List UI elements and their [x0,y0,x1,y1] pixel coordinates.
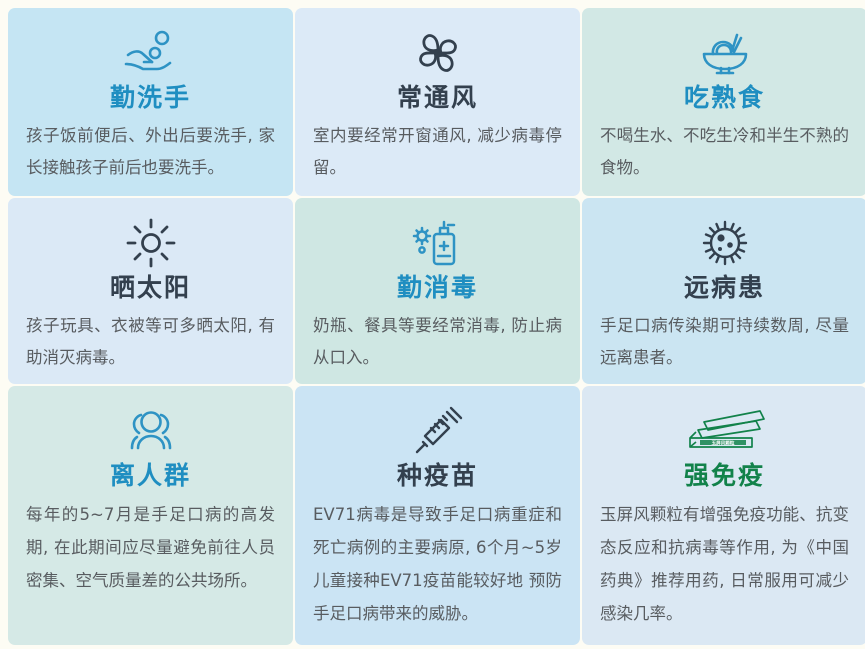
card-title: 强免疫 [684,462,765,490]
card-avoid-crowds[interactable]: 离人群 每年的5~7月是手足口病的高发期, 在此期间应尽量避免前往人员密集、空气… [8,386,293,645]
card-title: 勤消毒 [397,274,478,302]
card-title: 远病患 [684,274,765,302]
card-body: 孩子玩具、衣被等可多晒太阳, 有助消灭病毒。 [26,310,275,374]
card-body: EV71病毒是导致手足口病重症和死亡病例的主要病原, 6个月~5岁儿童接种EV7… [313,498,562,630]
sun-icon [126,216,176,270]
card-body: 手足口病传染期可持续数周, 尽量远离患者。 [600,310,849,374]
medicine-sachets-icon: 玉屏风颗粒 [682,404,768,458]
card-boost-immunity[interactable]: 玉屏风颗粒 强免疫 玉屏风颗粒有增强免疫功能、抗变态反应和抗病毒等作用, 为《中… [582,386,865,645]
card-ventilation[interactable]: 常通风 室内要经常开窗通风, 减少病毒停留。 [295,8,580,196]
card-body: 奶瓶、餐具等要经常消毒, 防止病从口入。 [313,310,562,374]
card-cooked-food[interactable]: 吃熟食 不喝生水、不吃生冷和半生不熟的食物。 [582,8,865,196]
card-title: 勤洗手 [110,84,191,112]
people-group-icon [121,404,181,458]
card-title: 晒太阳 [110,274,191,302]
card-body: 孩子饭前便后、外出后要洗手, 家长接触孩子前后也要洗手。 [26,120,275,184]
card-avoid-patients[interactable]: 远病患 手足口病传染期可持续数周, 尽量远离患者。 [582,198,865,384]
card-title: 离人群 [110,462,191,490]
card-sunlight[interactable]: 晒太阳 孩子玩具、衣被等可多晒太阳, 有助消灭病毒。 [8,198,293,384]
sachet-label: 玉屏风颗粒 [711,439,734,446]
card-disinfect[interactable]: 勤消毒 奶瓶、餐具等要经常消毒, 防止病从口入。 [295,198,580,384]
prevention-card-grid: 勤洗手 孩子饭前便后、外出后要洗手, 家长接触孩子前后也要洗手。 常通风 室内要… [0,0,865,649]
card-title: 种疫苗 [397,462,478,490]
card-body: 室内要经常开窗通风, 减少病毒停留。 [313,120,562,184]
card-body: 不喝生水、不吃生冷和半生不熟的食物。 [600,120,849,184]
virus-icon [699,216,751,270]
card-title: 常通风 [397,84,478,112]
noodle-bowl-icon [697,26,753,80]
card-body: 每年的5~7月是手足口病的高发期, 在此期间应尽量避免前往人员密集、空气质量差的… [26,498,275,597]
fan-icon [412,26,464,80]
syringe-icon [413,404,463,458]
card-body: 玉屏风颗粒有增强免疫功能、抗变态反应和抗病毒等作用, 为《中国药典》推荐用药, … [600,498,849,630]
card-title: 吃熟食 [684,84,765,112]
card-wash-hands[interactable]: 勤洗手 孩子饭前便后、外出后要洗手, 家长接触孩子前后也要洗手。 [8,8,293,196]
hand-washing-icon [122,26,180,80]
sanitizer-bottle-icon [412,216,464,270]
card-vaccination[interactable]: 种疫苗 EV71病毒是导致手足口病重症和死亡病例的主要病原, 6个月~5岁儿童接… [295,386,580,645]
